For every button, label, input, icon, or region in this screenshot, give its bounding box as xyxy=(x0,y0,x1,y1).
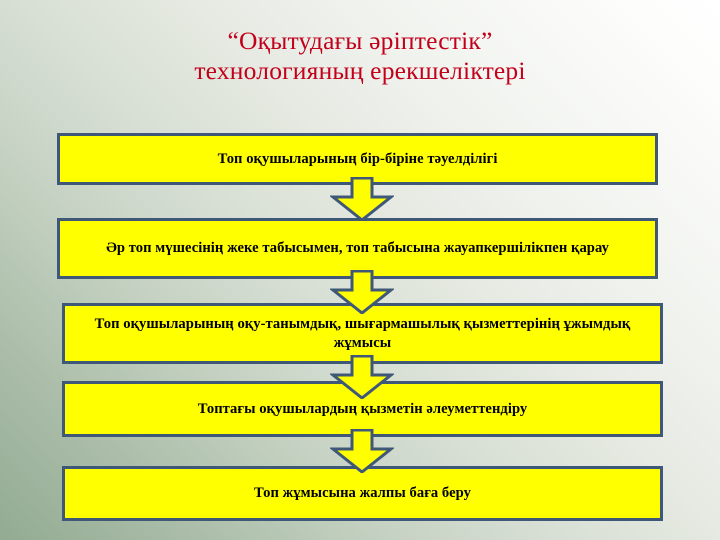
title-line-2: технологияның ерекшеліктері xyxy=(0,56,720,86)
flow-step-5-label: Топ жұмысына жалпы баға беру xyxy=(75,484,650,503)
down-arrow-icon xyxy=(330,355,394,399)
page-title: “Оқытудағы әріптестік” технологияның ере… xyxy=(0,26,720,85)
slide-canvas: “Оқытудағы әріптестік” технологияның ере… xyxy=(0,0,720,540)
down-arrow-icon xyxy=(330,429,394,473)
flow-step-5: Топ жұмысына жалпы баға беру xyxy=(62,466,663,521)
flow-step-3-label: Топ оқушыларының оқу-танымдық, шығармашы… xyxy=(75,315,650,352)
down-arrow-icon xyxy=(330,177,394,221)
flow-step-2-label: Әр топ мүшесінің жеке табысымен, топ таб… xyxy=(70,239,645,258)
flow-step-1-label: Топ оқушыларының бір-біріне тәуелділігі xyxy=(70,150,645,169)
down-arrow-icon xyxy=(330,270,394,314)
flow-step-4-label: Топтағы оқушылардың қызметін әлеуметтенд… xyxy=(75,400,650,419)
title-line-1: “Оқытудағы әріптестік” xyxy=(0,26,720,56)
